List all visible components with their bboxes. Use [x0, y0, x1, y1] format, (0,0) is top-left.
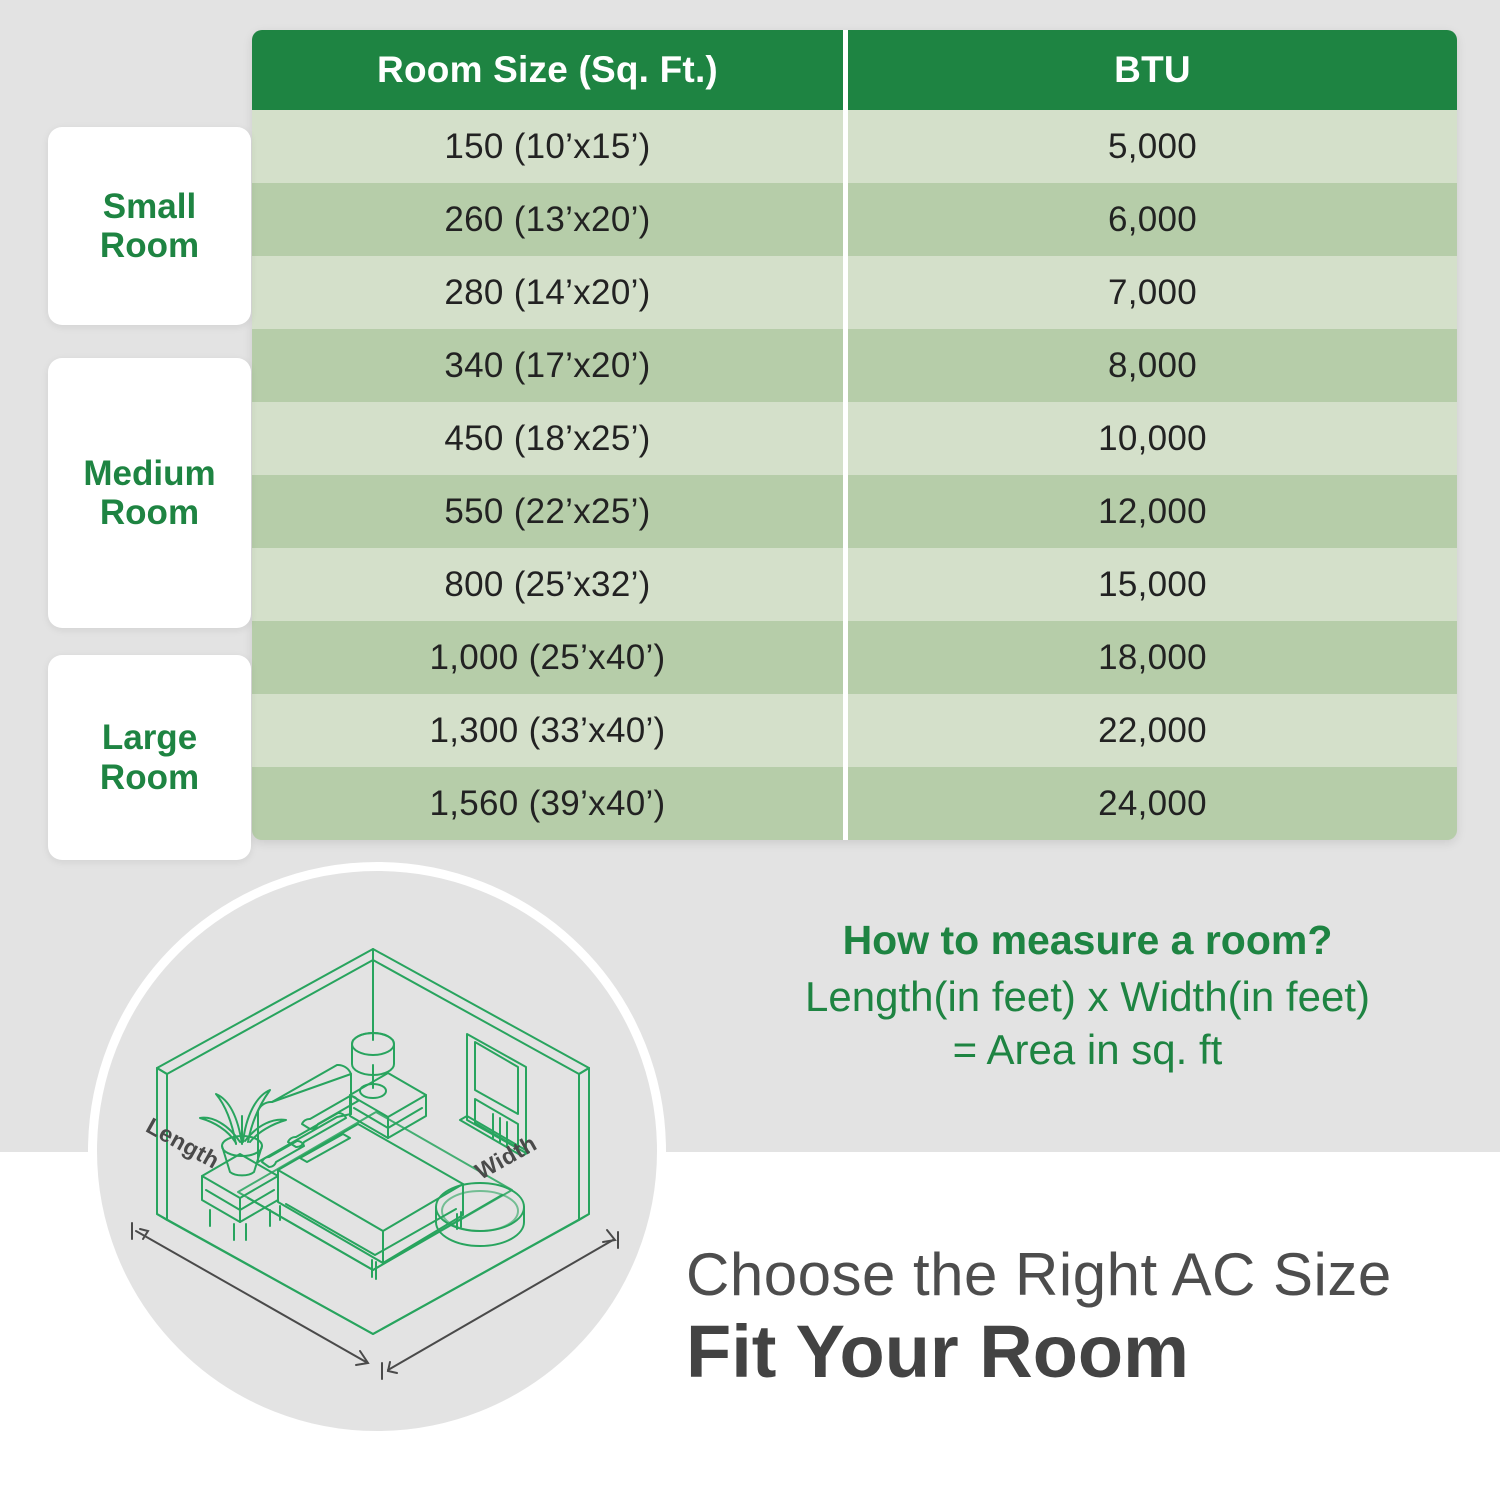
table-row: 260 (13’x20’) 6,000	[252, 183, 1457, 256]
category-label-medium-room: MediumRoom	[83, 454, 215, 532]
cell-btu: 10,000	[848, 402, 1457, 475]
table-row: 150 (10’x15’) 5,000	[252, 110, 1457, 183]
room-illustration: Length Width	[88, 862, 666, 1440]
table-header-row: Room Size (Sq. Ft.) BTU	[252, 30, 1457, 110]
headline-line-2: Fit Your Room	[686, 1312, 1486, 1392]
cell-btu: 12,000	[848, 475, 1457, 548]
measure-formula: Length(in feet) x Width(in feet) = Area …	[700, 971, 1475, 1077]
cell-room-size: 800 (25’x32’)	[252, 548, 848, 621]
measure-formula-line1: Length(in feet) x Width(in feet)	[700, 971, 1475, 1024]
cell-btu: 6,000	[848, 183, 1457, 256]
cell-room-size: 1,300 (33’x40’)	[252, 694, 848, 767]
table-row: 800 (25’x32’) 15,000	[252, 548, 1457, 621]
category-card-small-room: SmallRoom	[48, 127, 251, 325]
cell-btu: 22,000	[848, 694, 1457, 767]
cell-btu: 24,000	[848, 767, 1457, 840]
table-row: 1,000 (25’x40’) 18,000	[252, 621, 1457, 694]
headline-line-1: Choose the Right AC Size	[686, 1243, 1486, 1308]
btu-sizing-table: Room Size (Sq. Ft.) BTU 150 (10’x15’) 5,…	[252, 30, 1457, 840]
category-label-small-room: SmallRoom	[100, 187, 199, 265]
cell-room-size: 340 (17’x20’)	[252, 329, 848, 402]
table-row: 1,560 (39’x40’) 24,000	[252, 767, 1457, 840]
table-row: 340 (17’x20’) 8,000	[252, 329, 1457, 402]
cell-btu: 18,000	[848, 621, 1457, 694]
table-row: 450 (18’x25’) 10,000	[252, 402, 1457, 475]
how-to-measure-section: How to measure a room? Length(in feet) x…	[700, 915, 1475, 1077]
cell-room-size: 150 (10’x15’)	[252, 110, 848, 183]
table-row: 1,300 (33’x40’) 22,000	[252, 694, 1457, 767]
cell-room-size: 550 (22’x25’)	[252, 475, 848, 548]
cell-room-size: 450 (18’x25’)	[252, 402, 848, 475]
bottom-headline: Choose the Right AC Size Fit Your Room	[686, 1243, 1486, 1392]
category-card-large-room: LargeRoom	[48, 655, 251, 860]
category-card-medium-room: MediumRoom	[48, 358, 251, 628]
column-header-room-size: Room Size (Sq. Ft.)	[252, 30, 848, 110]
cell-btu: 5,000	[848, 110, 1457, 183]
cell-room-size: 1,000 (25’x40’)	[252, 621, 848, 694]
table-row: 550 (22’x25’) 12,000	[252, 475, 1457, 548]
cell-room-size: 1,560 (39’x40’)	[252, 767, 848, 840]
cell-btu: 15,000	[848, 548, 1457, 621]
cell-btu: 7,000	[848, 256, 1457, 329]
category-label-large-room: LargeRoom	[100, 718, 199, 796]
cell-room-size: 280 (14’x20’)	[252, 256, 848, 329]
measure-formula-line2: = Area in sq. ft	[700, 1024, 1475, 1077]
how-to-measure-title: How to measure a room?	[700, 915, 1475, 965]
cell-btu: 8,000	[848, 329, 1457, 402]
column-header-btu: BTU	[848, 30, 1457, 110]
cell-room-size: 260 (13’x20’)	[252, 183, 848, 256]
table-row: 280 (14’x20’) 7,000	[252, 256, 1457, 329]
